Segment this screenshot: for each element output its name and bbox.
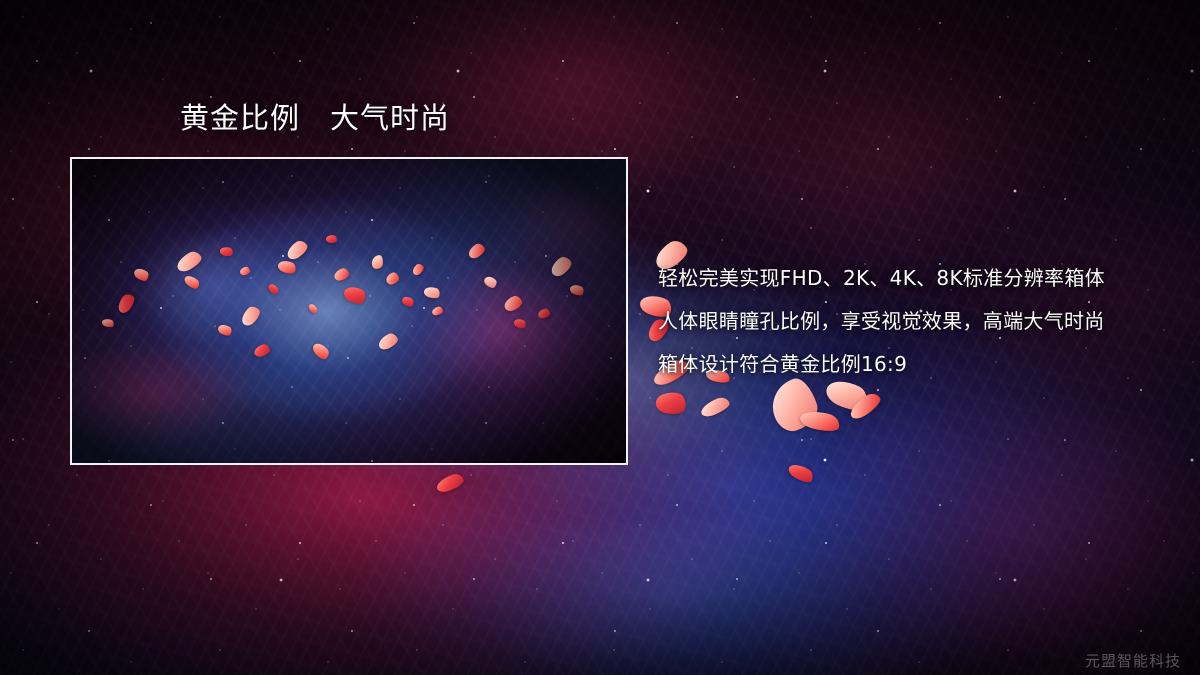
page-title: 黄金比例 大气时尚 <box>180 101 450 135</box>
body-line-3: 箱体设计符合黄金比例16:9 <box>658 343 1168 386</box>
body-line-2: 人体眼睛瞳孔比例，享受视觉效果，高端大气时尚 <box>658 300 1168 343</box>
body-line-1: 轻松完美实现FHD、2K、4K、8K标准分辨率箱体 <box>658 257 1168 300</box>
picture-frame-vignette <box>72 159 626 463</box>
slide-canvas: 黄金比例 大气时尚 轻松完美实现FHD、2K、4K、8K标准分辨率箱体 人体眼睛… <box>0 0 1200 675</box>
picture-frame <box>70 157 628 465</box>
body-text-block: 轻松完美实现FHD、2K、4K、8K标准分辨率箱体 人体眼睛瞳孔比例，享受视觉效… <box>658 257 1168 386</box>
watermark: 元盟智能科技 <box>1085 650 1181 671</box>
